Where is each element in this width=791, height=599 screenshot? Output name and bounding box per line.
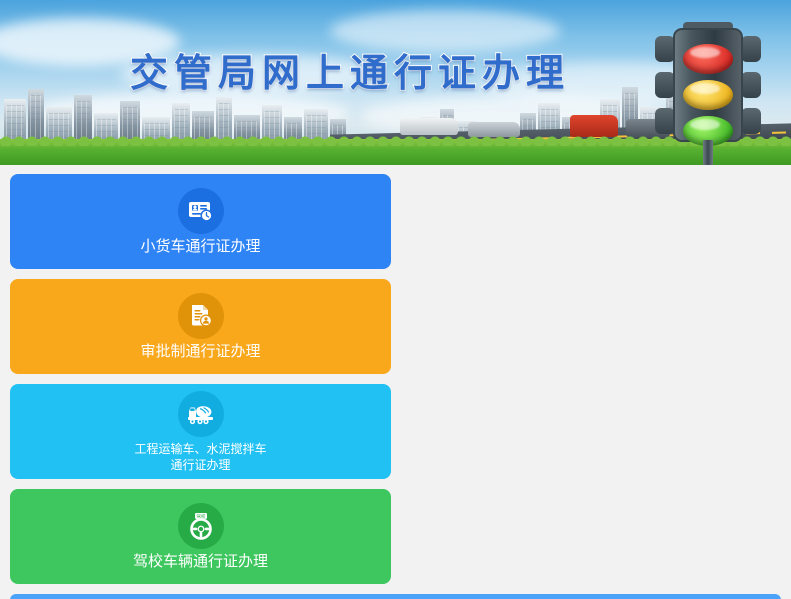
traffic-light-illustration — [653, 20, 763, 165]
page-banner: 交管局网上通行证办理 — [0, 0, 791, 165]
card-small-truck-permit[interactable]: 小货车通行证办理 — [10, 174, 391, 269]
traffic-light-yellow-lamp — [683, 80, 733, 110]
card-label: 审批制通行证办理 — [140, 343, 260, 361]
card-label: 驾校车辆通行证办理 — [133, 553, 268, 571]
page-title: 交管局网上通行证办理 — [0, 42, 700, 97]
card-label-line1: 工程运输车、水泥搅拌车 — [134, 441, 266, 457]
cement-mixer-truck-icon — [178, 391, 224, 437]
main-content: 小货车通行证办理 审批制通行证办理 — [0, 165, 791, 599]
card-label-line2: 通行证办理 — [170, 457, 230, 473]
permit-query-button[interactable]: 通行证查询 — [10, 594, 781, 599]
id-card-icon — [178, 188, 224, 234]
card-approval-permit[interactable]: 审批制通行证办理 — [10, 279, 391, 374]
document-approval-icon — [178, 293, 224, 339]
traffic-light-red-lamp — [683, 44, 733, 74]
card-driving-school-permit[interactable]: 驾校 驾校车辆通行证办理 — [10, 489, 391, 584]
card-engineering-mixer-permit[interactable]: 工程运输车、水泥搅拌车 通行证办理 — [10, 384, 391, 479]
service-card-grid: 小货车通行证办理 审批制通行证办理 — [10, 174, 781, 584]
card-label: 小货车通行证办理 — [140, 238, 260, 256]
steering-wheel-icon: 驾校 — [178, 503, 224, 549]
